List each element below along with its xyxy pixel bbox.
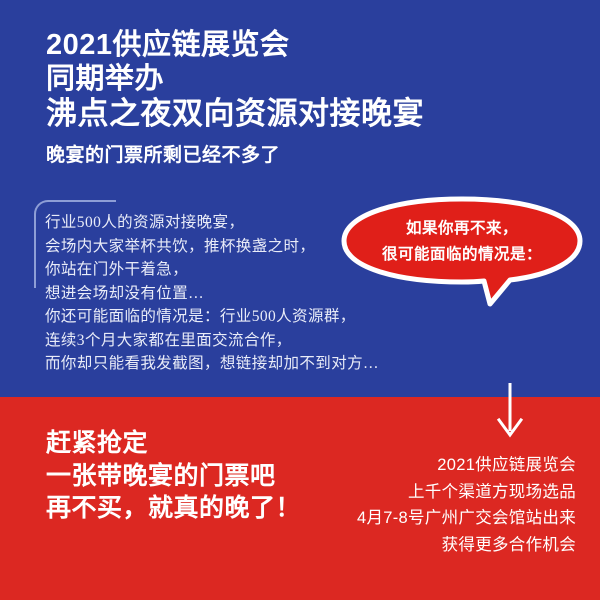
headline-block: 2021供应链展览会 同期举办 沸点之夜双向资源对接晚宴 晚宴的门票所剩已经不多… [46,28,566,167]
poster-canvas: 2021供应链展览会 同期举办 沸点之夜双向资源对接晚宴 晚宴的门票所剩已经不多… [0,0,600,600]
event-info-line: 4月7-8号广州广交会馆站出来 [276,505,576,532]
event-info-line: 2021供应链展览会 [276,452,576,479]
headline-subtitle: 晚宴的门票所剩已经不多了 [46,140,566,167]
speech-bubble-shape [338,196,586,308]
headline-line-2: 同期举办 [46,62,566,96]
speech-bubble: 如果你再不来， 很可能面临的情况是： [338,196,586,308]
down-arrow-icon [492,382,528,440]
body-copy-line: 连续3个月大家都在里面交流合作， [45,329,485,353]
body-copy-line: 而你却只能看我发截图，想链接却加不到对方… [45,352,485,376]
down-arrow-glyph [492,382,528,440]
headline-line-3: 沸点之夜双向资源对接晚宴 [46,96,566,133]
body-copy-line: 你还可能面临的情况是：行业500人资源群， [45,305,485,329]
headline-line-1: 2021供应链展览会 [46,28,566,62]
event-info-block: 2021供应链展览会 上千个渠道方现场选品 4月7-8号广州广交会馆站出来 获得… [276,452,576,558]
event-info-line: 获得更多合作机会 [276,532,576,559]
event-info-line: 上千个渠道方现场选品 [276,479,576,506]
